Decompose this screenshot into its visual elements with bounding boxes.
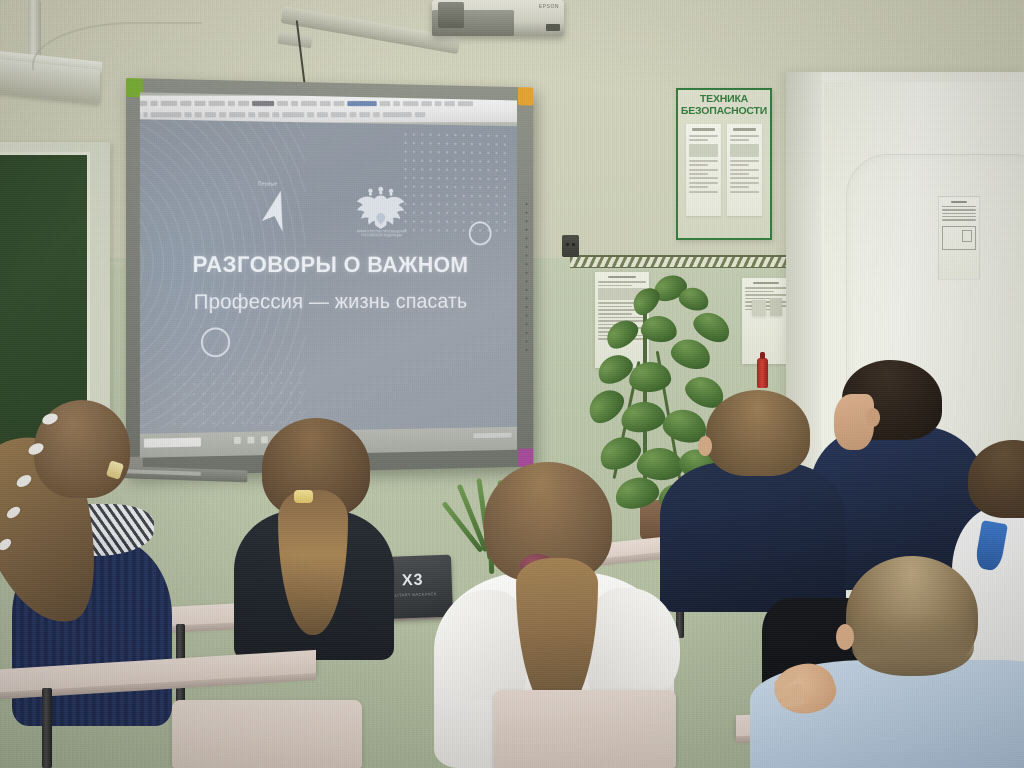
ribbon-tabs-row[interactable] — [140, 99, 517, 108]
ribbon-tab[interactable] — [228, 100, 235, 105]
poster-title-line1: ТЕХНИКА — [700, 93, 748, 105]
toolbar-button[interactable] — [184, 112, 191, 117]
hair — [968, 440, 1024, 518]
ribbon-tab[interactable] — [150, 100, 157, 105]
fire-extinguisher-icon — [757, 358, 768, 388]
poster-sheets — [686, 124, 762, 216]
ribbon-tab[interactable] — [435, 101, 442, 106]
toolbar-button[interactable] — [359, 112, 370, 117]
chair-back — [172, 700, 362, 768]
presentation-app-ribbon[interactable] — [140, 96, 517, 123]
wall-notice — [742, 278, 790, 364]
wall-outlet — [562, 235, 579, 257]
address-field[interactable] — [151, 112, 182, 117]
slide-ring-bottom — [201, 327, 230, 357]
hair-elastic — [294, 490, 313, 503]
ear — [836, 624, 854, 650]
safety-poster: ТЕХНИКА БЕЗОПАСНОСТИ — [676, 88, 772, 240]
toolbar-button[interactable] — [140, 112, 141, 117]
chair-back — [494, 690, 676, 768]
ribbon-tab[interactable] — [180, 100, 191, 105]
interactive-whiteboard[interactable]: Первые МИНИС — [126, 78, 533, 476]
ribbon-tab[interactable] — [334, 101, 345, 106]
ribbon-tab[interactable] — [140, 100, 148, 105]
ribbon-toolbar-row[interactable] — [140, 110, 517, 118]
toolbar-button[interactable] — [383, 112, 412, 117]
hair — [706, 390, 810, 476]
board-corner-orange — [518, 87, 533, 105]
ribbon-tab-active[interactable] — [252, 100, 274, 105]
slide-logo-row: Первые МИНИС — [140, 181, 517, 242]
toolbar-button[interactable] — [248, 112, 255, 117]
toolbar-button[interactable] — [272, 112, 279, 117]
projector-lens — [438, 2, 464, 28]
projector-brand-label: EPSON — [539, 4, 559, 10]
projector: EPSON — [432, 0, 564, 36]
toolbar-button[interactable] — [258, 112, 269, 117]
student-girl-braid-navy-vest — [0, 400, 180, 700]
ribbon-tab[interactable] — [194, 100, 205, 105]
projector-ports — [546, 24, 560, 31]
wall-pictogram — [752, 300, 766, 316]
toolbar-button[interactable] — [349, 112, 356, 117]
board-projection-surface[interactable]: Первые МИНИС — [140, 92, 517, 457]
ribbon-tab[interactable] — [238, 100, 249, 105]
ribbon-tab[interactable] — [161, 100, 177, 105]
desk-leg — [42, 688, 52, 768]
ribbon-tab[interactable] — [403, 101, 419, 106]
toolbar-button[interactable] — [307, 112, 314, 117]
slide-title: РАЗГОВОРЫ О ВАЖНОМ — [140, 251, 517, 278]
pervye-arrow-shape — [260, 190, 289, 231]
pervye-logo-caption: Первые — [258, 181, 277, 187]
taskbar-tray[interactable] — [473, 433, 511, 439]
wall-decorative-border — [570, 255, 795, 268]
toolbar-button[interactable] — [205, 112, 216, 117]
toolbar-button[interactable] — [373, 112, 380, 117]
russia-coat-of-arms-icon: МИНИСТЕРСТВО ПРОСВЕЩЕНИЯ РОССИЙСКОЙ ФЕДЕ… — [354, 184, 408, 243]
poster-sheet — [727, 124, 762, 216]
classroom-photo: EPSON — [0, 0, 1024, 768]
ear — [698, 436, 712, 456]
ribbon-tab[interactable] — [380, 101, 391, 106]
toolbar-button[interactable] — [229, 112, 245, 117]
evacuation-plan-notice — [938, 196, 980, 280]
poster-sheet — [686, 124, 721, 216]
ribbon-tab[interactable] — [209, 100, 225, 105]
poster-title-line2: БЕЗОПАСНОСТИ — [681, 105, 767, 117]
toolbar-button[interactable] — [331, 112, 347, 117]
blouse-shoulder-right — [588, 588, 680, 700]
ribbon-tab[interactable] — [277, 100, 288, 105]
toolbar-button[interactable] — [143, 112, 147, 117]
ribbon-tab[interactable] — [291, 100, 298, 105]
ribbon-tab[interactable] — [301, 100, 317, 105]
ribbon-tab[interactable] — [320, 101, 331, 106]
ribbon-tab[interactable] — [393, 101, 400, 106]
hair-fade — [852, 614, 974, 676]
toolbar-button[interactable] — [415, 112, 426, 117]
safety-poster-title: ТЕХНИКА БЕЗОПАСНОСТИ — [678, 94, 770, 117]
wall-pictogram — [770, 298, 782, 316]
ear — [866, 408, 880, 427]
student-girl-dark-top — [232, 418, 397, 658]
slide-subtitle: Профессия — жизнь спасать — [140, 290, 517, 315]
student-boy-light-blue-shirt — [800, 556, 1024, 768]
toolbar-button[interactable] — [282, 112, 304, 117]
toolbar-button[interactable] — [219, 112, 226, 117]
slide[interactable]: Первые МИНИС — [140, 119, 517, 433]
board-side-strip — [524, 200, 529, 353]
ribbon-tab[interactable] — [444, 101, 455, 106]
ribbon-tool-group[interactable] — [347, 101, 376, 106]
ribbon-tab[interactable] — [421, 101, 432, 106]
ribbon-tab[interactable] — [458, 101, 473, 106]
pervye-logo-icon: Первые — [256, 182, 298, 233]
toolbar-button[interactable] — [195, 112, 202, 117]
toolbar-button[interactable] — [317, 112, 328, 117]
coat-of-arms-caption: МИНИСТЕРСТВО ПРОСВЕЩЕНИЯ РОССИЙСКОЙ ФЕДЕ… — [348, 229, 415, 237]
